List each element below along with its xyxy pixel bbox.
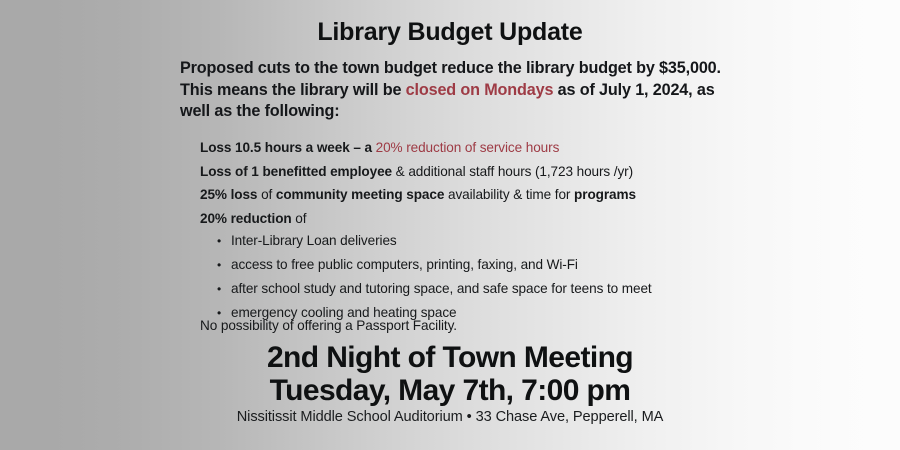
lede-highlight-closed-mondays: closed on Mondays bbox=[406, 81, 554, 99]
meeting-announcement: 2nd Night of Town Meeting Tuesday, May 7… bbox=[0, 341, 900, 407]
reduction-bullet-list: Inter-Library Loan deliveries access to … bbox=[217, 229, 757, 325]
claim-2-bold: Loss of 1 benefitted employee bbox=[200, 164, 392, 179]
claim-row-staff-loss: Loss of 1 benefitted employee & addition… bbox=[200, 160, 740, 184]
passport-facility-note: No possibility of offering a Passport Fa… bbox=[200, 318, 457, 333]
impact-claims-list: Loss 10.5 hours a week – a 20% reduction… bbox=[200, 136, 740, 230]
claim-3-bold-3: programs bbox=[574, 187, 636, 202]
poster-title: Library Budget Update bbox=[0, 18, 900, 47]
poster-lede: Proposed cuts to the town budget reduce … bbox=[180, 58, 725, 123]
meeting-line-2: Tuesday, May 7th, 7:00 pm bbox=[0, 374, 900, 407]
claim-3-bold-2: community meeting space bbox=[276, 187, 444, 202]
claim-1-red: 20% reduction of service hours bbox=[376, 140, 560, 155]
meeting-line-1: 2nd Night of Town Meeting bbox=[0, 341, 900, 374]
claim-1-bold: Loss 10.5 hours a week – a bbox=[200, 140, 376, 155]
poster-content: Library Budget Update Proposed cuts to t… bbox=[0, 0, 900, 450]
list-item: after school study and tutoring space, a… bbox=[217, 277, 757, 301]
claim-4-regular: of bbox=[292, 211, 307, 226]
claim-row-service-hours: Loss 10.5 hours a week – a 20% reduction… bbox=[200, 136, 740, 160]
list-item: Inter-Library Loan deliveries bbox=[217, 229, 757, 253]
poster-canvas: Library Budget Update Proposed cuts to t… bbox=[0, 0, 900, 450]
claim-3-bold: 25% loss bbox=[200, 187, 257, 202]
claim-3-regular: of bbox=[257, 187, 276, 202]
claim-4-bold: 20% reduction bbox=[200, 211, 292, 226]
claim-3-regular-2: availability & time for bbox=[444, 187, 574, 202]
claim-2-regular: & additional staff hours (1,723 hours /y… bbox=[392, 164, 633, 179]
venue-address: Nissitissit Middle School Auditorium • 3… bbox=[0, 409, 900, 425]
claim-row-meeting-space: 25% loss of community meeting space avai… bbox=[200, 183, 740, 207]
claim-row-reduction-intro: 20% reduction of bbox=[200, 207, 740, 231]
list-item: access to free public computers, printin… bbox=[217, 253, 757, 277]
